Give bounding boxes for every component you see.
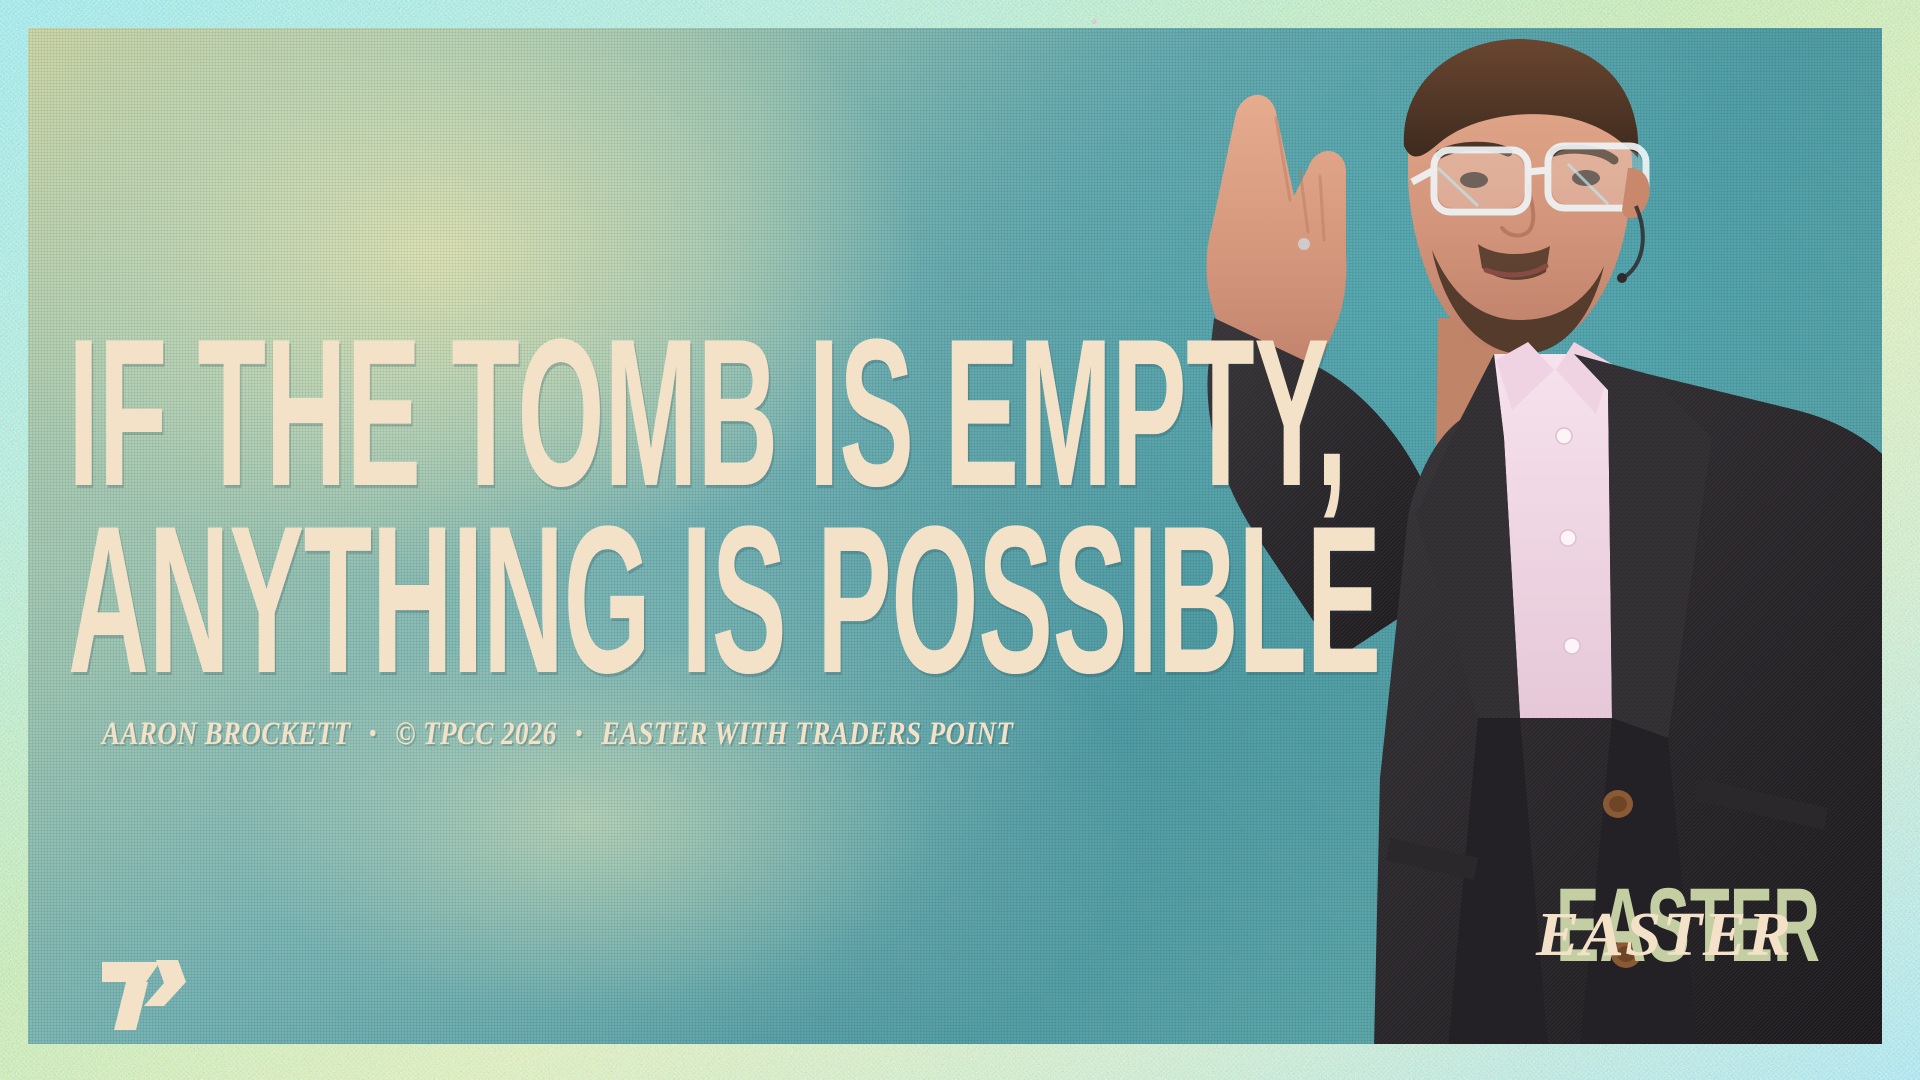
poster-canvas: IF THE TOMB IS EMPTY, ANYTHING IS POSSIB… <box>0 0 1920 1080</box>
artwork-plate: IF THE TOMB IS EMPTY, ANYTHING IS POSSIB… <box>28 28 1882 1044</box>
easter-script-text: EASTER <box>1536 904 1792 966</box>
headline-line-1: IF THE TOMB IS EMPTY, <box>68 323 689 504</box>
easter-lockup: EASTER EASTER <box>1536 878 1836 988</box>
credits-copyright: © TPCC 2026 <box>395 716 557 752</box>
credits-separator-1: • <box>358 721 388 747</box>
credits-event: EASTER WITH TRADERS POINT <box>601 716 1013 752</box>
credits-separator-2: • <box>564 721 594 747</box>
headline-line-2: ANYTHING IS POSSIBLE <box>68 510 689 691</box>
credits-line: AARON BROCKETT • © TPCC 2026 • EASTER WI… <box>102 716 1013 753</box>
credits-speaker: AARON BROCKETT <box>102 716 351 752</box>
traders-point-logo-icon <box>100 956 186 1032</box>
headline: IF THE TOMB IS EMPTY, ANYTHING IS POSSIB… <box>68 323 1228 690</box>
